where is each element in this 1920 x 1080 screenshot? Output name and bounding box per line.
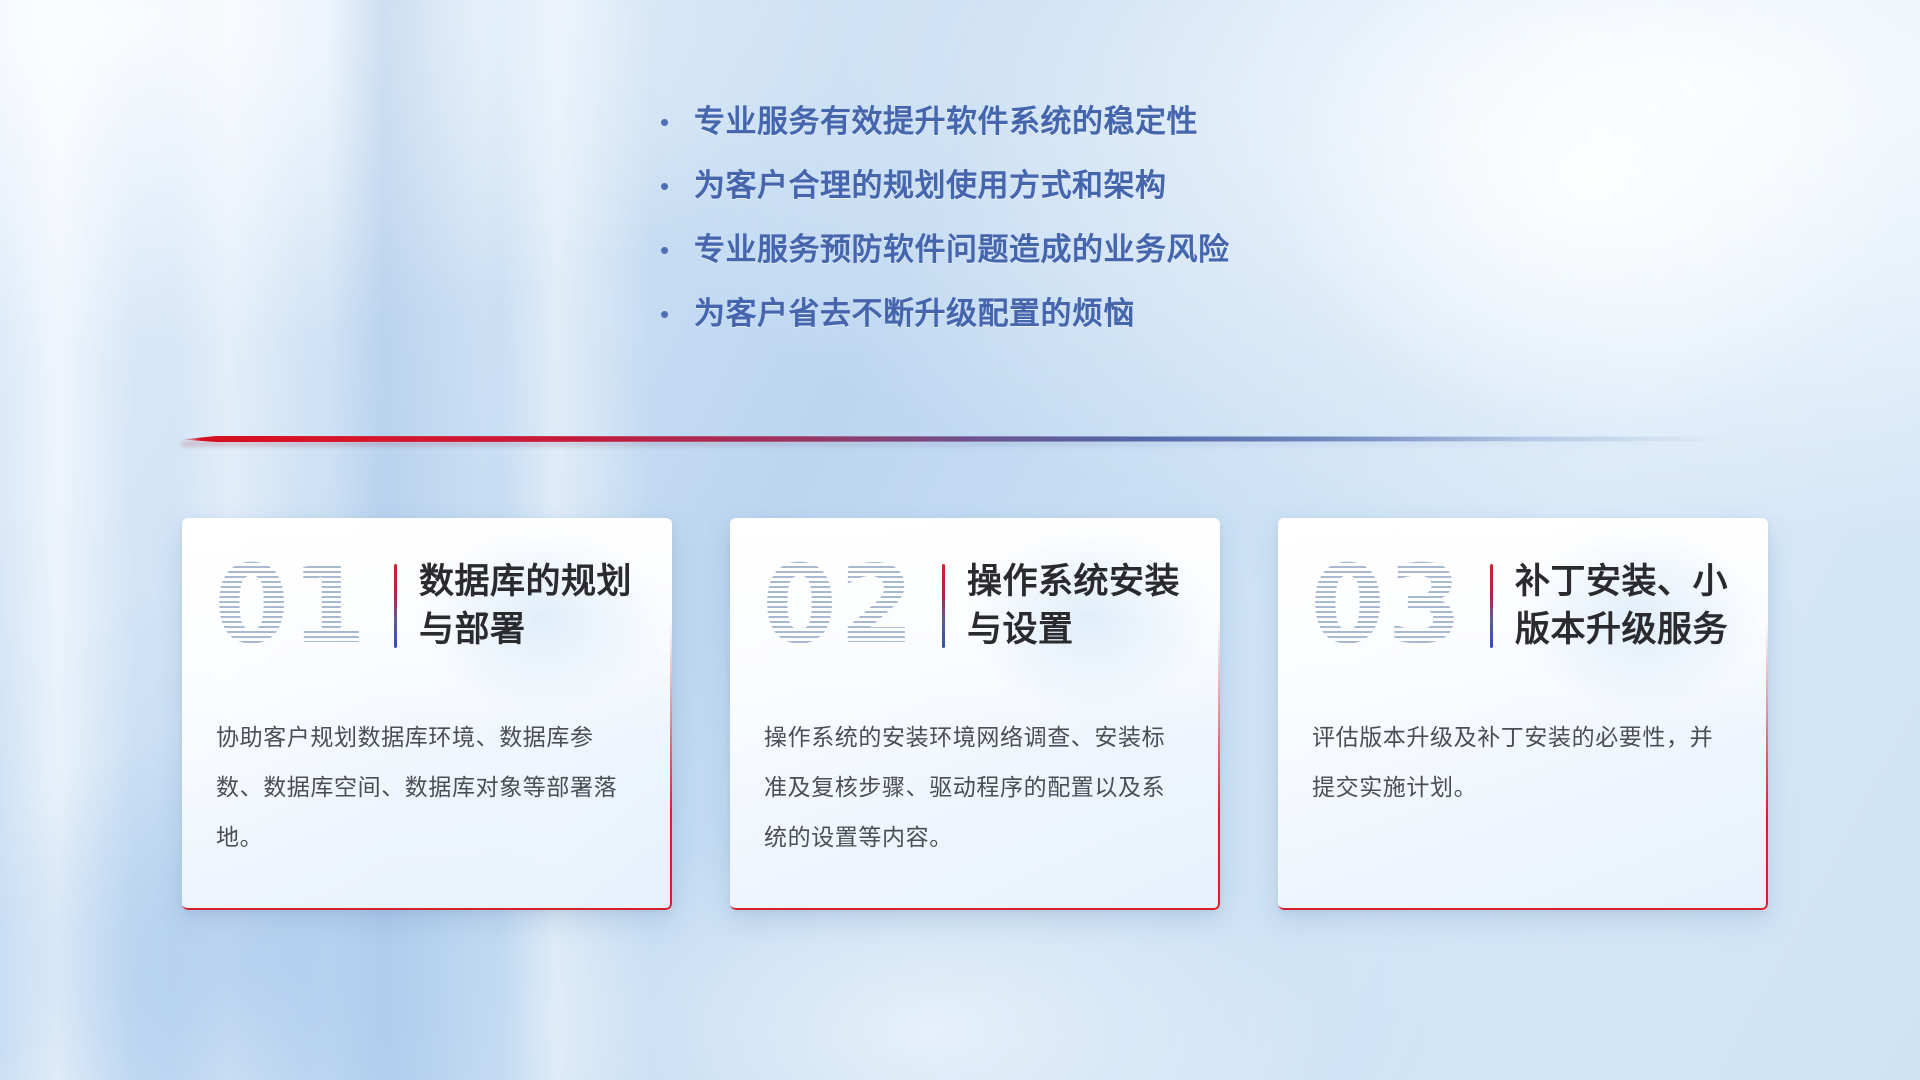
feature-card-01[interactable]: 01 数据库的规划与部署 协助客户规划数据库环境、数据库参数、数据库空间、数据库… — [182, 518, 672, 910]
card-title: 数据库的规划与部署 — [419, 558, 642, 654]
bullet-dot-icon: • — [660, 100, 694, 144]
card-header: 01 数据库的规划与部署 — [182, 518, 672, 658]
card-body-text: 评估版本升级及补丁安装的必要性，并提交实施计划。 — [1278, 658, 1768, 812]
bullet-text: 为客户合理的规划使用方式和架构 — [694, 164, 1167, 208]
bullet-dot-icon: • — [660, 292, 694, 336]
card-separator-bar — [942, 564, 945, 648]
slide-root: • 专业服务有效提升软件系统的稳定性 • 为客户合理的规划使用方式和架构 • 专… — [0, 0, 1920, 1080]
bullet-text: 专业服务预防软件问题造成的业务风险 — [694, 228, 1230, 272]
bullet-text: 为客户省去不断升级配置的烦恼 — [694, 292, 1135, 336]
feature-card-03[interactable]: 03 补丁安装、小版本升级服务 评估版本升级及补丁安装的必要性，并提交实施计划。 — [1278, 518, 1768, 910]
list-item: • 专业服务预防软件问题造成的业务风险 — [660, 228, 1560, 292]
card-header: 02 操作系统安装与设置 — [730, 518, 1220, 658]
divider-bar — [182, 436, 1722, 442]
list-item: • 专业服务有效提升软件系统的稳定性 — [660, 100, 1560, 164]
benefits-bullet-list: • 专业服务有效提升软件系统的稳定性 • 为客户合理的规划使用方式和架构 • 专… — [660, 100, 1560, 356]
divider-shadow — [182, 442, 1722, 446]
bullet-dot-icon: • — [660, 164, 694, 208]
bullet-text: 专业服务有效提升软件系统的稳定性 — [694, 100, 1198, 144]
feature-card-row: 01 数据库的规划与部署 协助客户规划数据库环境、数据库参数、数据库空间、数据库… — [182, 518, 1768, 910]
bullet-dot-icon: • — [660, 228, 694, 272]
card-header: 03 补丁安装、小版本升级服务 — [1278, 518, 1768, 658]
card-title: 操作系统安装与设置 — [967, 558, 1190, 654]
card-separator-bar — [1490, 564, 1493, 648]
card-title: 补丁安装、小版本升级服务 — [1515, 558, 1738, 654]
card-number: 02 — [762, 551, 938, 661]
list-item: • 为客户省去不断升级配置的烦恼 — [660, 292, 1560, 356]
card-body-text: 操作系统的安装环境网络调查、安装标准及复核步骤、驱动程序的配置以及系统的设置等内… — [730, 658, 1220, 862]
card-separator-bar — [394, 564, 397, 648]
card-number: 01 — [214, 551, 390, 661]
feature-card-02[interactable]: 02 操作系统安装与设置 操作系统的安装环境网络调查、安装标准及复核步骤、驱动程… — [730, 518, 1220, 910]
card-number: 03 — [1310, 551, 1486, 661]
list-item: • 为客户合理的规划使用方式和架构 — [660, 164, 1560, 228]
section-divider — [182, 432, 1722, 446]
card-body-text: 协助客户规划数据库环境、数据库参数、数据库空间、数据库对象等部署落地。 — [182, 658, 672, 862]
